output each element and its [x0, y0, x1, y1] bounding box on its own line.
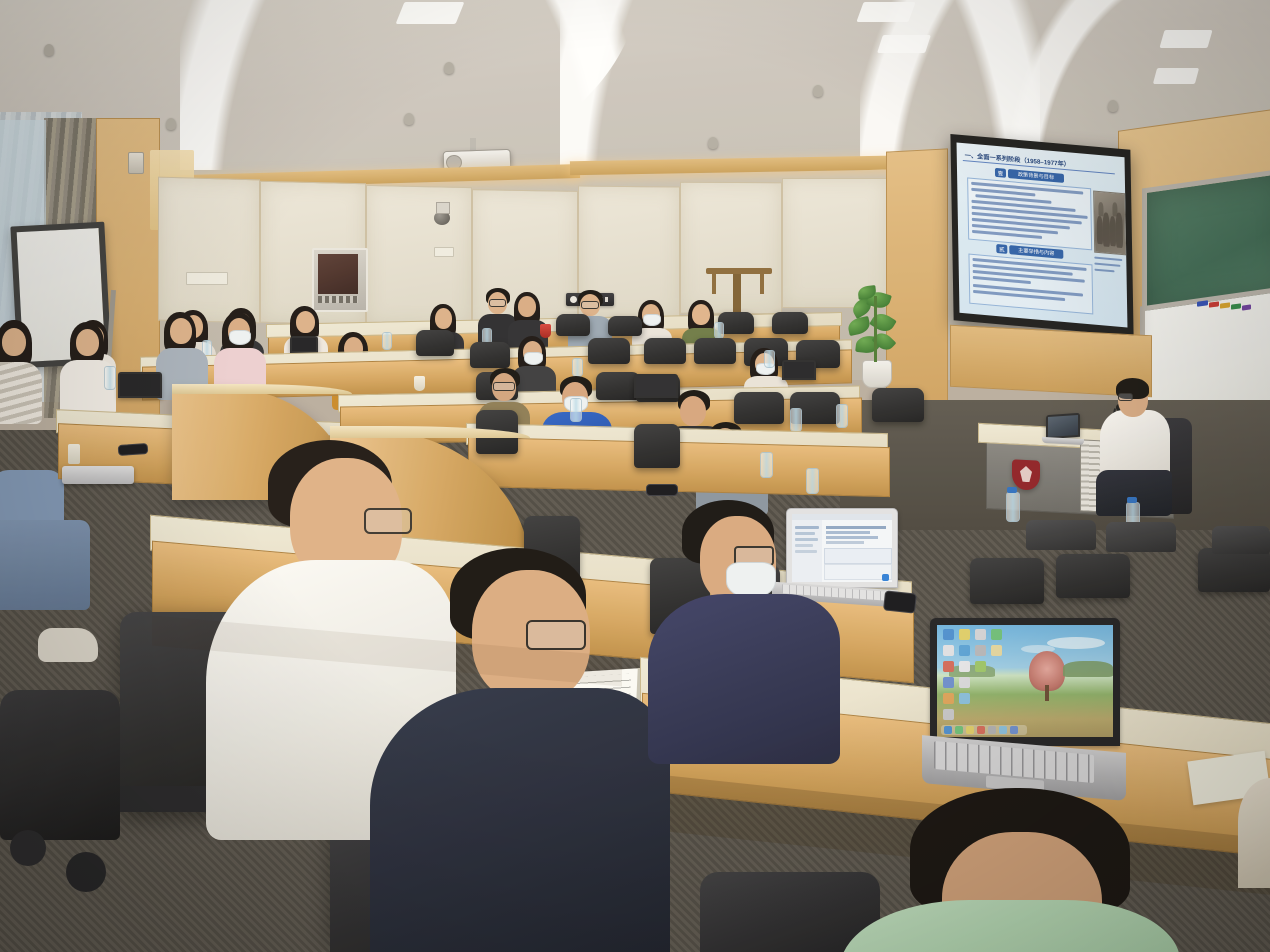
cove-light-slit-b	[856, 2, 915, 22]
wall-outlet-right[interactable]	[434, 247, 454, 257]
desktop-icon[interactable]	[943, 693, 954, 704]
desktop-icon[interactable]	[959, 693, 970, 704]
rack-hook-2	[760, 274, 764, 294]
plaque-logo-icon	[570, 296, 577, 303]
chair[interactable]	[1026, 520, 1096, 550]
cove-light-slit-c	[877, 35, 931, 53]
chair[interactable]	[772, 312, 808, 334]
camera-bracket	[436, 202, 450, 214]
presenter-laptop-display	[1048, 415, 1078, 437]
chair-base-foreground-left[interactable]	[0, 690, 120, 840]
laptop-row3[interactable]	[634, 374, 678, 398]
water-bottle[interactable]	[806, 468, 819, 494]
rack-hook-1	[712, 274, 716, 294]
chair[interactable]	[470, 342, 510, 368]
projection-screen: 一、全面一系列阶段（1958–1977年） 壹 政策背景与目标 贰 主要举措与内…	[957, 142, 1128, 327]
dock-icon[interactable]	[999, 726, 1007, 734]
laptop-macbook-air-display[interactable]	[792, 514, 892, 582]
plant-pot	[862, 360, 892, 388]
phone-on-left-desk[interactable]	[118, 443, 149, 456]
laptop-macbook-air-lid[interactable]	[786, 508, 898, 588]
laptop-macbook-lid[interactable]	[930, 618, 1120, 746]
chair[interactable]	[416, 330, 454, 356]
water-bottle[interactable]	[714, 322, 724, 339]
water-bottle[interactable]	[836, 404, 848, 428]
chair[interactable]	[1198, 548, 1270, 592]
ceiling-speaker-5	[708, 137, 718, 149]
wallpaper-cloud	[1047, 637, 1105, 649]
plant-stem	[874, 296, 877, 362]
desktop-icon[interactable]	[975, 645, 986, 656]
chair[interactable]	[556, 314, 590, 336]
water-bottle[interactable]	[382, 332, 392, 350]
slide-photo-caption-line	[1094, 263, 1120, 268]
water-bottle[interactable]	[104, 366, 116, 390]
chair[interactable]	[644, 338, 686, 364]
right-wall-wood	[886, 148, 948, 413]
slide-photo-caption-line	[1094, 269, 1114, 273]
presenter-laptop-screen[interactable]	[1046, 413, 1080, 439]
red-coffee-cup[interactable]	[540, 324, 551, 338]
slide-photo-caption-line	[1094, 257, 1122, 262]
av-control-panel-buttons[interactable]	[318, 296, 358, 303]
paper-cup[interactable]	[414, 376, 425, 391]
ceiling-speaker-6	[813, 85, 823, 97]
chair-wheel	[66, 852, 106, 892]
slide-section-1-badge: 壹	[995, 168, 1006, 178]
chair[interactable]	[588, 338, 630, 364]
slide-section-2-badge: 贰	[996, 244, 1007, 254]
desktop-icon[interactable]	[991, 645, 1002, 656]
wallpaper-background-trees	[949, 665, 995, 677]
laptop-left-open[interactable]	[118, 372, 162, 398]
acoustic-panel-1	[158, 177, 260, 324]
app-badge-icon	[882, 574, 889, 581]
chair[interactable]	[634, 424, 680, 468]
presenter-glasses	[1118, 393, 1133, 401]
acoustic-panel-6	[680, 182, 782, 315]
lecture-hall-photo: 一、全面一系列阶段（1958–1977年） 壹 政策背景与目标 贰 主要举措与内…	[0, 0, 1270, 952]
desktop-icon[interactable]	[975, 661, 986, 672]
ceiling-speaker-4	[404, 113, 414, 125]
laptop-left-closed[interactable]	[62, 466, 134, 484]
chair[interactable]	[608, 316, 642, 336]
chair[interactable]	[970, 558, 1044, 604]
wall-sconce	[128, 152, 144, 174]
water-bottle[interactable]	[572, 358, 583, 377]
chair[interactable]	[734, 392, 784, 424]
desktop-icon[interactable]	[943, 645, 954, 656]
ceiling-speaker-2	[444, 62, 454, 74]
water-bottle[interactable]	[760, 452, 773, 478]
acoustic-panel-3	[366, 185, 472, 327]
av-control-panel-display[interactable]	[318, 254, 358, 294]
person-left-5-jeans	[0, 520, 90, 610]
dock-icon[interactable]	[944, 726, 952, 734]
dock-icon[interactable]	[977, 726, 985, 734]
dock-icon[interactable]	[966, 726, 974, 734]
ceiling-speaker-7	[1108, 100, 1118, 112]
laptop-row2[interactable]	[782, 360, 816, 380]
desktop-icon[interactable]	[959, 661, 970, 672]
podium-bottle-2-cap	[1127, 497, 1137, 503]
smartphone-on-desk[interactable]	[883, 590, 917, 613]
desktop-icon[interactable]	[943, 629, 954, 640]
cove-light-slit-a	[396, 2, 465, 24]
cove-light-slit-e	[1153, 68, 1199, 84]
slide-historic-photo	[1093, 190, 1126, 255]
chair[interactable]	[872, 388, 924, 422]
desktop-icon[interactable]	[975, 629, 986, 640]
water-bottle[interactable]	[764, 350, 775, 368]
wall-outlet-group[interactable]	[186, 272, 228, 285]
laptop-macbook-display[interactable]	[937, 625, 1113, 737]
desktop-icon[interactable]	[943, 661, 954, 672]
wallpaper-background-trees	[1063, 661, 1113, 677]
podium-bottle-cap	[1007, 487, 1017, 493]
ceiling-speaker-3	[166, 118, 176, 130]
desktop-icon[interactable]	[991, 629, 1002, 640]
chair[interactable]	[694, 338, 736, 364]
dock-icon[interactable]	[955, 726, 963, 734]
chair[interactable]	[1212, 526, 1270, 554]
left-desk-cup[interactable]	[68, 444, 80, 464]
wallpaper-tree-trunk	[1045, 685, 1049, 701]
desktop-icon[interactable]	[943, 709, 954, 720]
desktop-icon[interactable]	[959, 629, 970, 640]
desktop-icon[interactable]	[959, 645, 970, 656]
chair-wheel	[10, 830, 46, 866]
water-bottle[interactable]	[790, 408, 802, 432]
podium-water-bottle[interactable]	[1006, 492, 1020, 522]
cove-light-slit-d	[1159, 30, 1212, 48]
person-left-5-shoe	[38, 628, 98, 662]
water-bottle[interactable]	[570, 398, 582, 422]
phone-on-row4-desk[interactable]	[646, 484, 678, 496]
chair[interactable]	[1056, 554, 1130, 598]
laptop-back-row[interactable]	[290, 336, 318, 353]
dock-icon[interactable]	[1010, 726, 1018, 734]
chair[interactable]	[1106, 522, 1176, 552]
dock-icon[interactable]	[988, 726, 996, 734]
desktop-icon[interactable]	[943, 677, 954, 688]
ceiling-speaker-1	[44, 44, 54, 56]
desktop-icon[interactable]	[959, 677, 970, 688]
